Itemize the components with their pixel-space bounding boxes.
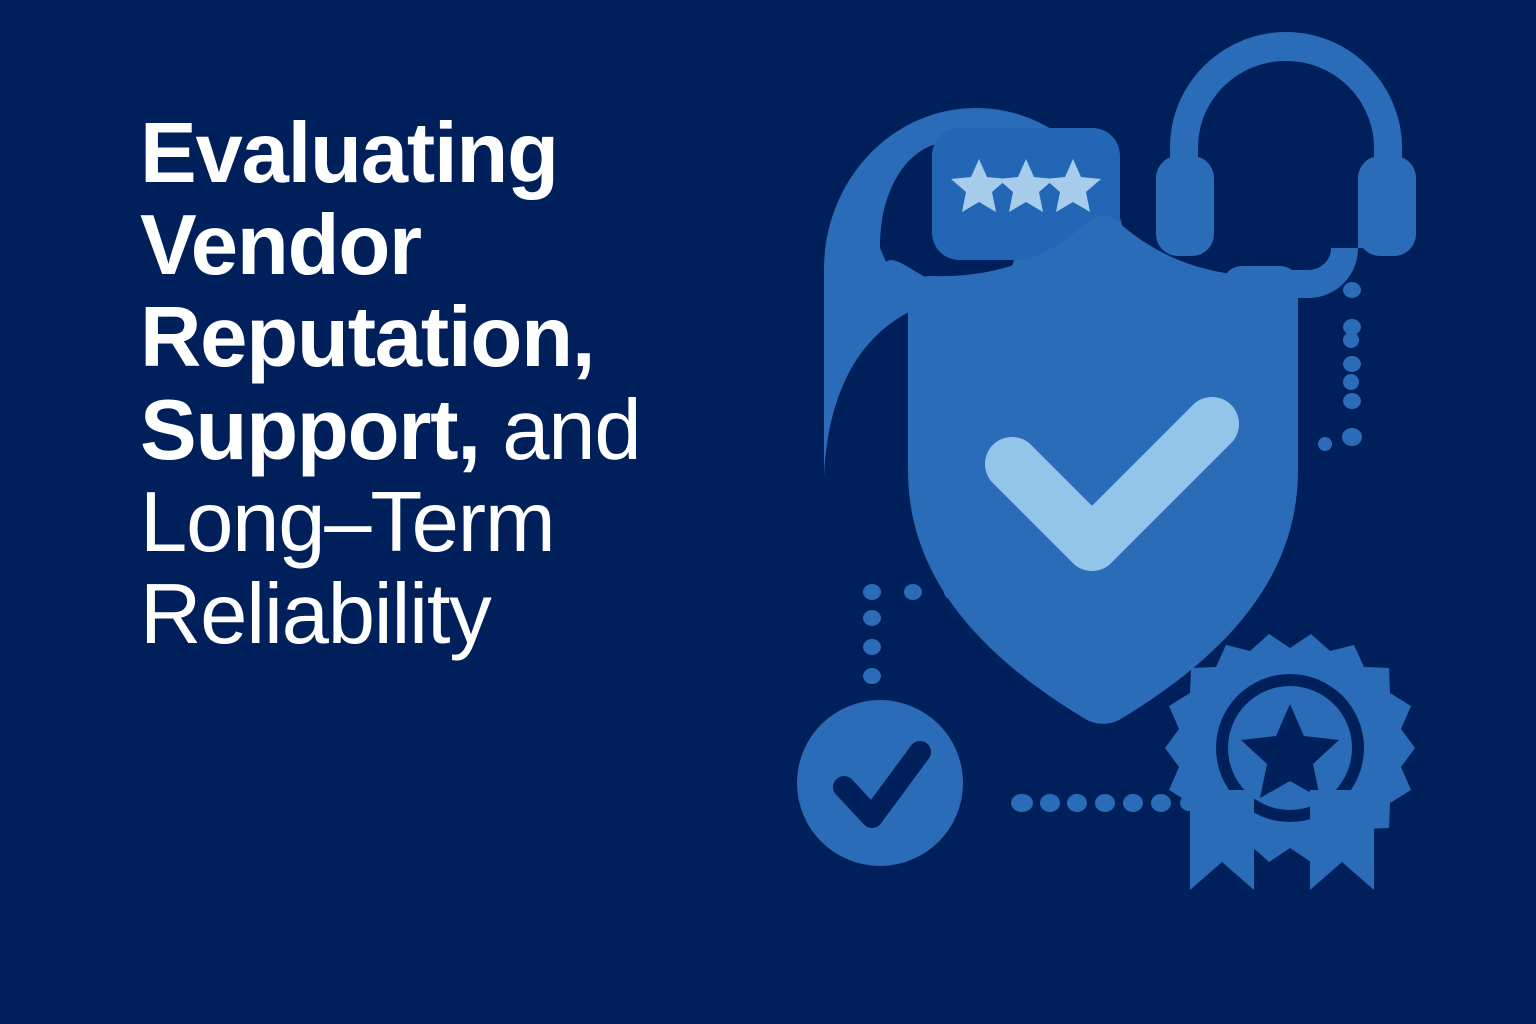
dot-pattern-left <box>863 584 962 684</box>
page-title: Evaluating Vendor Reputation, Support, a… <box>140 108 860 661</box>
shield-check-icon <box>908 216 1298 724</box>
shield-shape <box>908 216 1298 724</box>
slide-canvas: Evaluating Vendor Reputation, Support, a… <box>0 0 1536 1024</box>
vendor-trust-illustration <box>760 0 1536 1024</box>
check-circle-icon <box>797 700 963 866</box>
illustration-svg <box>760 0 1536 1024</box>
rosette-shape <box>1165 634 1415 862</box>
dot-pattern-bottom <box>1011 794 1198 812</box>
dot-pattern-right <box>1318 282 1362 451</box>
award-ribbon-icon <box>1165 634 1415 890</box>
